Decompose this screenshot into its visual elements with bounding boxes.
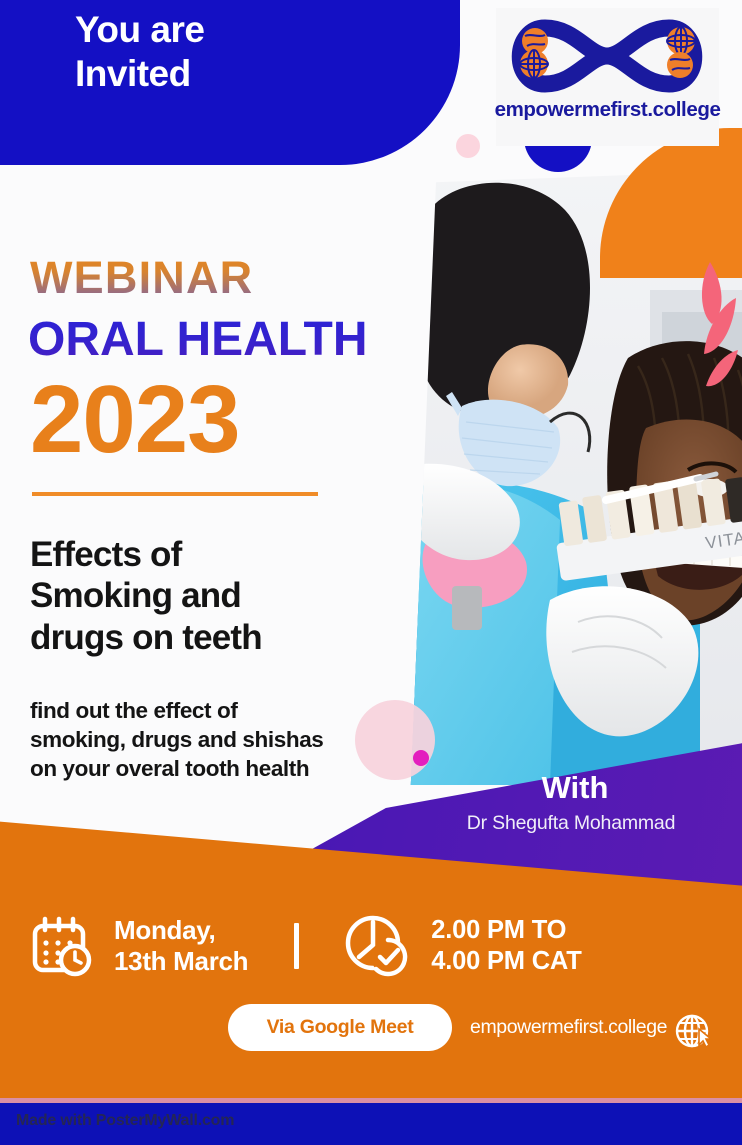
watermark-text: Made with PosterMyWall.com [16,1112,234,1130]
headline-title: ORAL HEALTH [28,312,368,367]
details-divider [294,923,299,969]
infinity-globes-logo-icon [505,8,710,104]
coral-leaf-decor [676,258,742,388]
pink-dot-decor [456,134,480,158]
headline-year: 2023 [30,372,240,468]
clock-check-icon [343,913,413,979]
date-item: Monday, 13th March [0,915,248,977]
topic-title: Effects of Smoking and drugs on teeth [30,534,370,658]
brand-name: empowermefirst.college [495,98,721,122]
platform-button[interactable]: Via Google Meet [228,1004,452,1051]
headline-underline [32,492,318,496]
headline-kicker: WEBINAR [30,252,253,304]
globe-cursor-icon [673,1011,713,1051]
time-item: 2.00 PM TO 4.00 PM CAT [343,913,581,979]
invite-banner: You are Invited [0,0,460,165]
calendar-clock-icon [30,915,96,977]
time-text: 2.00 PM TO 4.00 PM CAT [431,915,581,976]
invite-heading: You are Invited [75,8,375,95]
details-row: Monday, 13th March 2.00 PM TO 4.00 PM CA… [0,898,742,994]
date-text: Monday, 13th March [114,915,248,976]
topic-subtitle: find out the effect of smoking, drugs an… [30,697,390,783]
speaker-with-label: With [430,770,720,806]
magenta-dot-decor [413,750,429,766]
webinar-poster: VITA [0,0,742,1145]
speaker-name: Dr Shegufta Mohammad [400,812,742,835]
website-text: empowermefirst.college [470,1016,667,1039]
brand-logo-card[interactable]: empowermefirst.college [496,8,719,146]
